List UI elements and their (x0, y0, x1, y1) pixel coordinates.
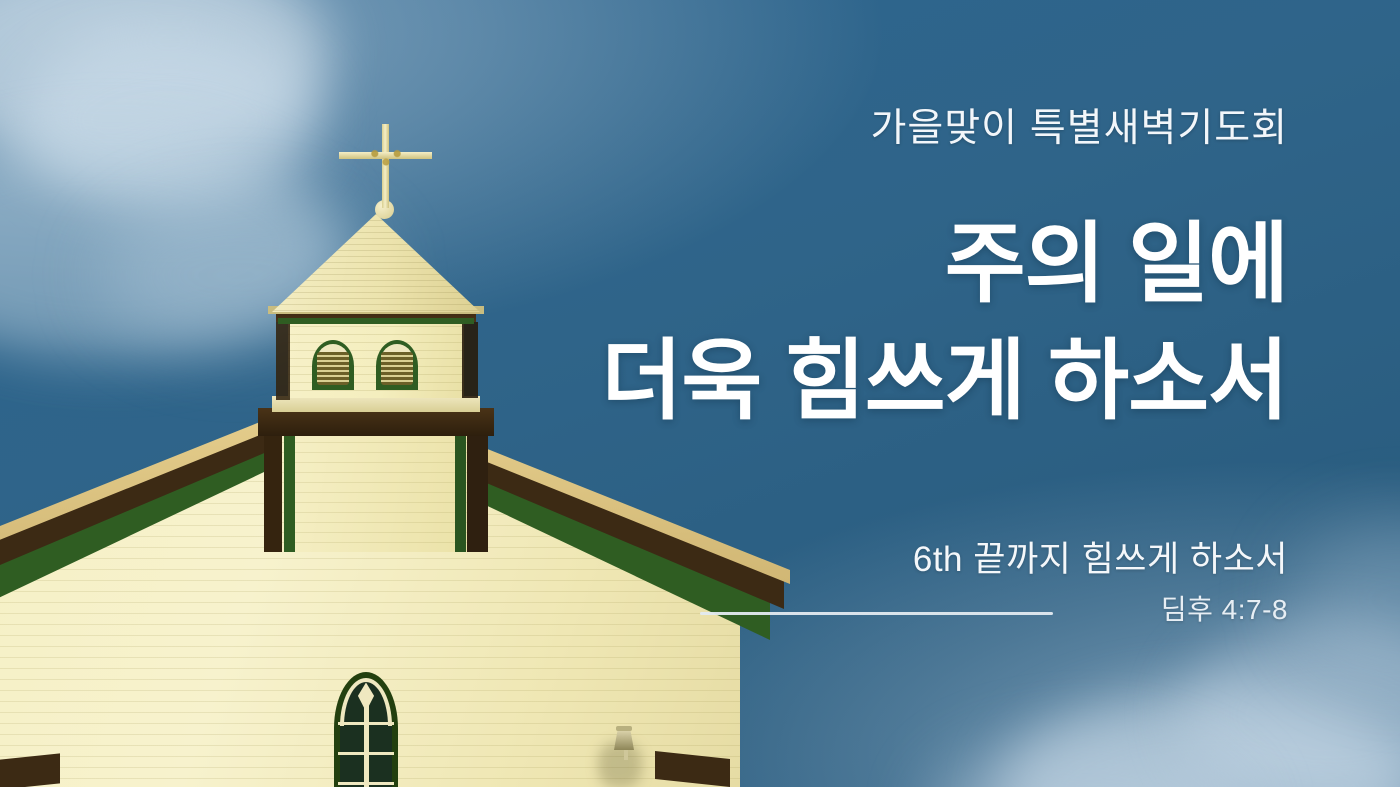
window-rail (338, 782, 394, 785)
series-subtitle: 6th 끝까지 힘쓰게 하소서 (913, 531, 1288, 582)
belfry-cornice (258, 408, 494, 436)
louver-slats (381, 352, 413, 385)
louver-slats (317, 352, 349, 385)
tower-green-trim-left (284, 432, 295, 552)
tower-green-trim-right (455, 432, 466, 552)
page-title: 주의 일에 더욱 힘쓰게 하소서 (601, 205, 1288, 439)
page-title-line-1: 주의 일에 (601, 205, 1288, 322)
eave-left (0, 753, 60, 787)
belfry-louver-window (376, 340, 418, 390)
page-title-line-2: 더욱 힘쓰게 하소서 (601, 322, 1288, 439)
spire-roof (272, 214, 480, 312)
event-eyebrow-text: 가을맞이 특별새벽기도회 (870, 97, 1288, 153)
slide-canvas: 가을맞이 특별새벽기도회 주의 일에 더욱 힘쓰게 하소서 6th 끝까지 힘쓰… (0, 0, 1400, 787)
window-rail (338, 752, 394, 755)
cross-ornament (366, 144, 406, 168)
belfry-shadow-left (276, 322, 290, 400)
window-mullion (364, 698, 369, 787)
belfry-cornice-light (272, 396, 480, 412)
lamp-cap (616, 726, 632, 731)
belfry-shadow-right (462, 322, 478, 398)
divider-rule (700, 612, 1053, 615)
tower-shadow-right (466, 432, 488, 552)
cloud-shape (1000, 690, 1400, 787)
cloud-shape (1290, 520, 1400, 680)
tower-shaft (282, 432, 467, 552)
gothic-arch-window (334, 672, 398, 787)
verse-reference: 딤후 4:7-8 (1161, 588, 1288, 628)
belfry-top-green-trim (278, 318, 474, 324)
belfry-louver-window (312, 340, 354, 390)
cloud-shape (1180, 620, 1400, 787)
tower-shadow-left (264, 432, 284, 552)
window-rail (338, 722, 394, 725)
cloud-shape (930, 740, 1250, 787)
